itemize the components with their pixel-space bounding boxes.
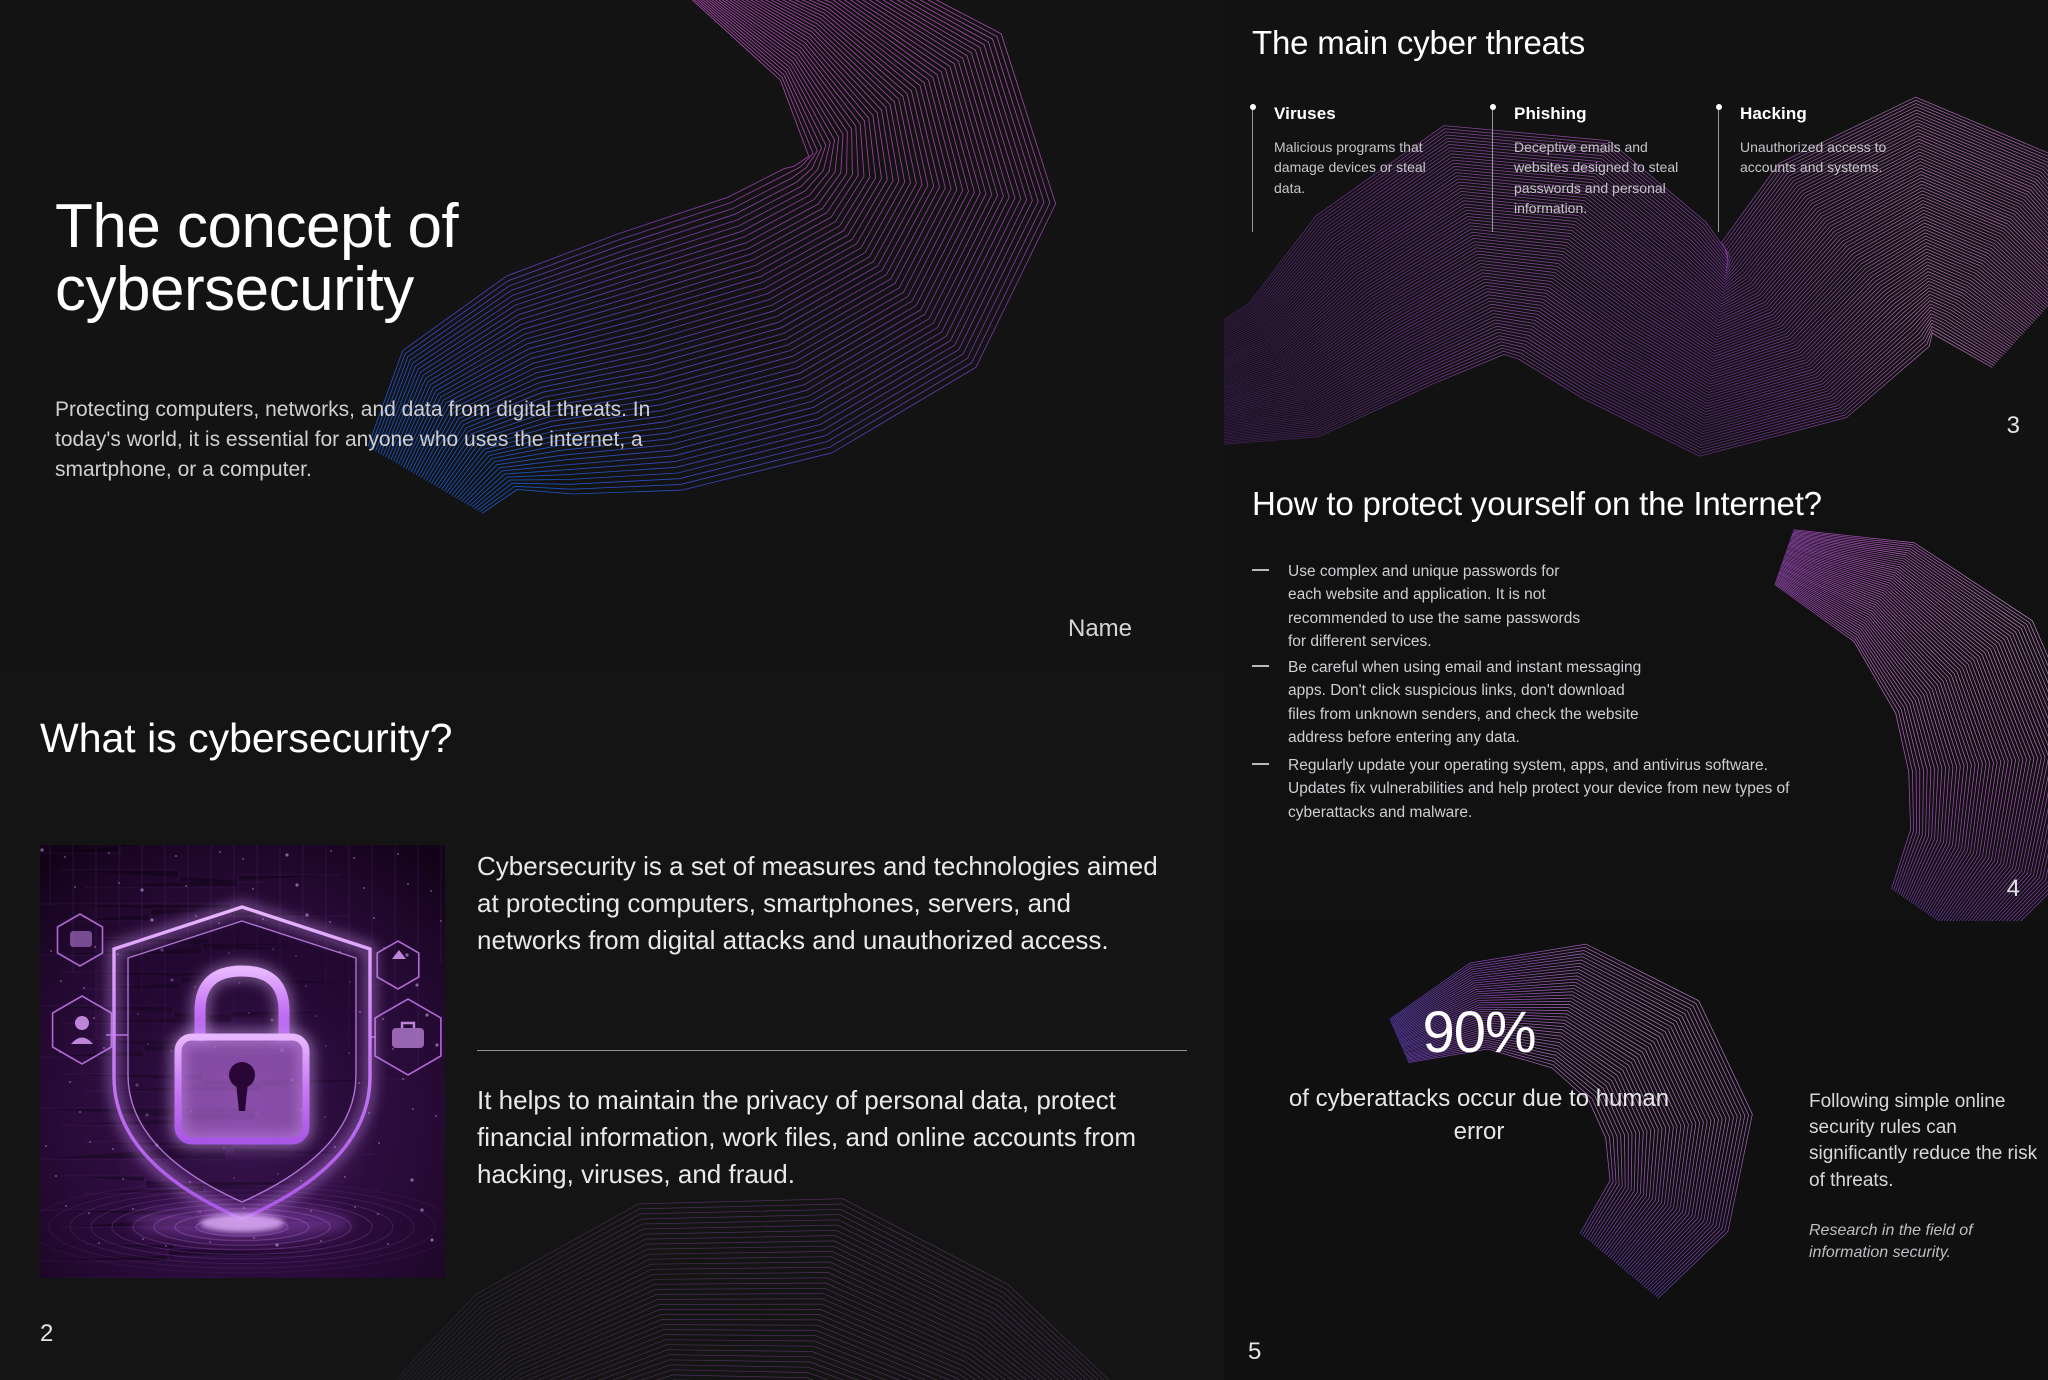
threat-item-hacking: Hacking Unauthorized access to accounts … bbox=[1718, 104, 1908, 178]
protection-tip-text: Regularly update your operating system, … bbox=[1288, 754, 1802, 824]
slide-statistic: 90% of cyberattacks occur due to human e… bbox=[1224, 921, 2048, 1380]
threat-connector-line bbox=[1252, 108, 1253, 232]
protection-tip: Regularly update your operating system, … bbox=[1252, 754, 1802, 824]
threat-dot-icon bbox=[1716, 104, 1722, 110]
statistic-value: 90% bbox=[1264, 999, 1694, 1066]
presenter-name: Name bbox=[1068, 615, 1132, 643]
protection-tip-text: Be careful when using email and instant … bbox=[1288, 656, 1652, 749]
threat-name: Viruses bbox=[1274, 104, 1452, 124]
threat-name: Phishing bbox=[1514, 104, 1682, 124]
slide-main-cyber-threats: The main cyber threats Viruses Malicious… bbox=[1224, 0, 2048, 462]
dash-icon bbox=[1252, 665, 1269, 667]
threat-connector-line bbox=[1492, 108, 1493, 232]
slide-what-is-cybersecurity bbox=[0, 672, 1224, 1380]
protection-tip: Use complex and unique passwords for eac… bbox=[1252, 560, 1582, 653]
threat-item-phishing: Phishing Deceptive emails and websites d… bbox=[1492, 104, 1682, 218]
threat-description: Deceptive emails and websites designed t… bbox=[1514, 137, 1682, 218]
page-subtitle: Protecting computers, networks, and data… bbox=[55, 395, 655, 484]
statistic-source-text: Research in the field of information sec… bbox=[1809, 1220, 2048, 1264]
page-number-4: 4 bbox=[2007, 875, 2020, 903]
slide-how-to-protect: How to protect yourself on the Internet?… bbox=[1224, 462, 2048, 921]
protection-tip: Be careful when using email and instant … bbox=[1252, 656, 1652, 749]
protection-tip-text: Use complex and unique passwords for eac… bbox=[1288, 560, 1582, 653]
page-number-5: 5 bbox=[1248, 1338, 1261, 1366]
page-title: The concept of cybersecurity bbox=[55, 195, 458, 321]
wave-art-what bbox=[0, 672, 1224, 1380]
statistic-caption: of cyberattacks occur due to human error bbox=[1264, 1082, 1694, 1148]
page-number-3: 3 bbox=[2007, 412, 2020, 440]
statistic-block: 90% of cyberattacks occur due to human e… bbox=[1264, 999, 1694, 1148]
threat-connector-line bbox=[1718, 108, 1719, 232]
threat-description: Unauthorized access to accounts and syst… bbox=[1740, 137, 1908, 178]
threat-name: Hacking bbox=[1740, 104, 1908, 124]
threat-item-viruses: Viruses Malicious programs that damage d… bbox=[1252, 104, 1452, 198]
dash-icon bbox=[1252, 569, 1269, 571]
protect-heading: How to protect yourself on the Internet? bbox=[1252, 485, 1822, 523]
threat-description: Malicious programs that damage devices o… bbox=[1274, 137, 1452, 198]
dash-icon bbox=[1252, 763, 1269, 765]
threat-dot-icon bbox=[1250, 104, 1256, 110]
threats-heading: The main cyber threats bbox=[1252, 24, 1585, 62]
statistic-lead-text: Following simple online security rules c… bbox=[1809, 1089, 2048, 1194]
statistic-side-note: Following simple online security rules c… bbox=[1809, 1089, 2048, 1264]
threat-dot-icon bbox=[1490, 104, 1496, 110]
slide-deck: The concept of cybersecurity Protecting … bbox=[0, 0, 2048, 1380]
wave-art-threats bbox=[1224, 0, 2048, 462]
slide-title-concept: The concept of cybersecurity Protecting … bbox=[0, 0, 1224, 672]
wave-art-title bbox=[0, 0, 1224, 672]
